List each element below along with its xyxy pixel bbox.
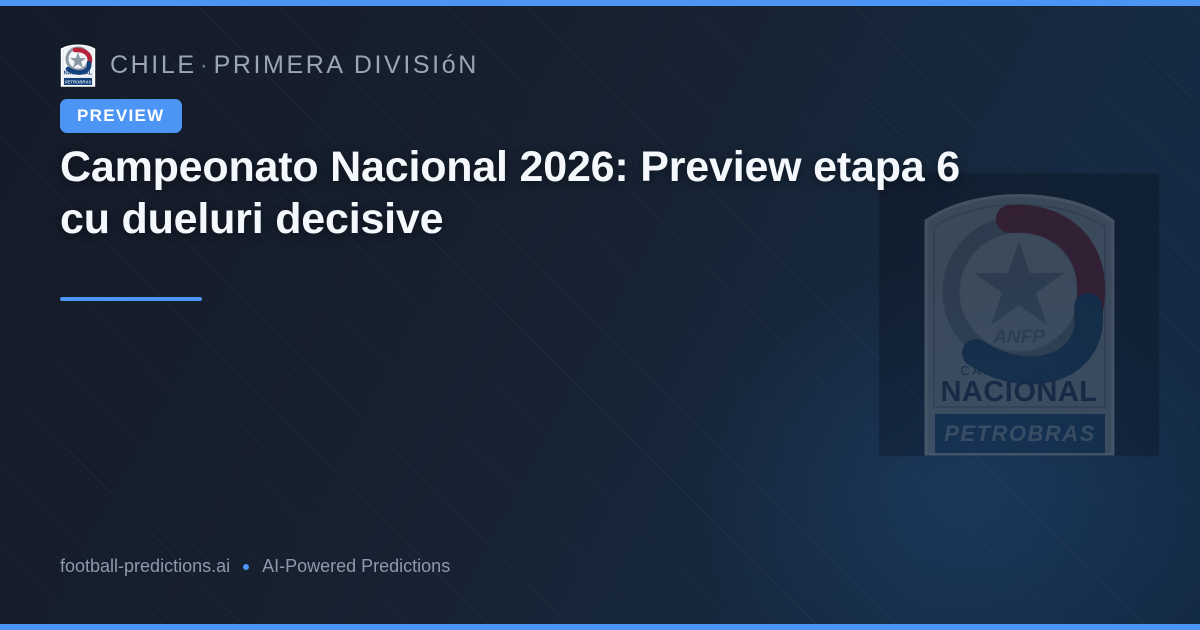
svg-text:NACIONAL: NACIONAL (64, 70, 93, 76)
title-underline-accent (60, 297, 202, 301)
footer-site: football-predictions.ai (60, 556, 230, 577)
bullet-dot-icon (243, 564, 249, 570)
footer: football-predictions.ai AI-Powered Predi… (60, 556, 450, 577)
league-label: CHILE·PRIMERA DIVISIóN (110, 51, 479, 80)
league-country: CHILE (110, 51, 197, 79)
svg-text:PETROBRAS: PETROBRAS (65, 79, 91, 84)
league-competition: PRIMERA DIVISIóN (214, 51, 479, 79)
campeonato-nacional-crest-icon: NACIONAL PETROBRAS (60, 42, 96, 88)
page-title: Campeonato Nacional 2026: Preview etapa … (60, 141, 1020, 245)
og-preview-card: ANFP CAMPEONATO NACIONAL PETROBRAS NACIO… (0, 0, 1200, 630)
league-separator: · (197, 51, 214, 79)
status-badge: PREVIEW (60, 99, 182, 133)
league-row: NACIONAL PETROBRAS CHILE·PRIMERA DIVISIó… (60, 39, 479, 91)
card-content: NACIONAL PETROBRAS CHILE·PRIMERA DIVISIó… (60, 0, 1140, 630)
footer-tagline: AI-Powered Predictions (262, 556, 450, 577)
